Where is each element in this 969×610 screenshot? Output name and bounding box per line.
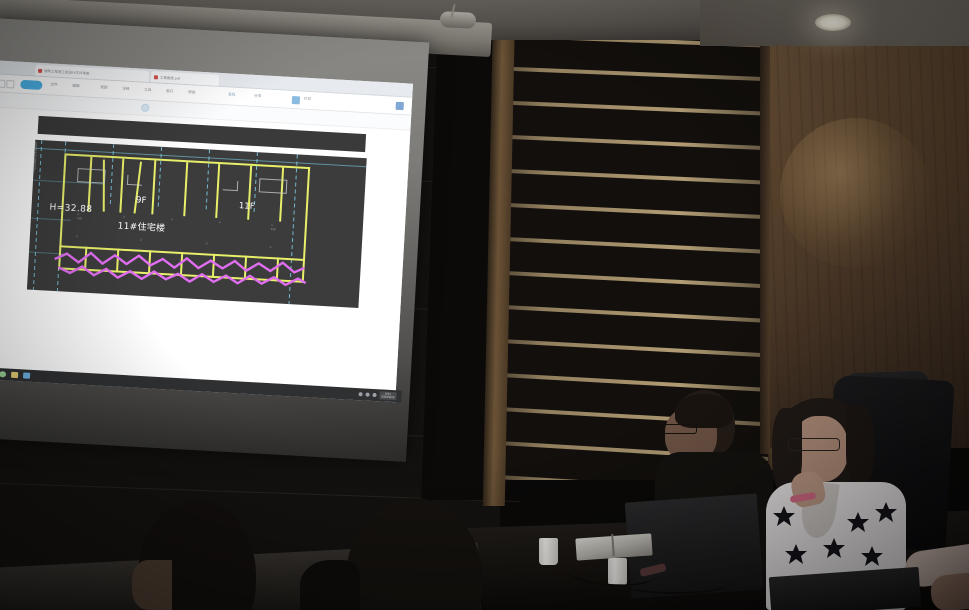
toolbar-item-1[interactable]: 编辑 — [72, 84, 79, 89]
browser-icon[interactable] — [0, 371, 6, 377]
toolbar-right-2[interactable]: 打印 — [304, 97, 311, 102]
man-hairline — [675, 394, 733, 428]
paper-cup-left — [539, 538, 558, 565]
pdf-icon — [154, 75, 158, 79]
toolbar-item-2[interactable]: 视图 — [100, 85, 107, 90]
cable-secondary — [620, 572, 730, 594]
woman-glasses-icon — [788, 438, 840, 451]
cad-floor-label-right: 11F — [239, 201, 255, 212]
toolbar-item-5[interactable]: 窗口 — [166, 89, 173, 94]
taskbar-tray: 9:51 2020/9/24 — [358, 390, 397, 401]
magenta-ground-line — [27, 140, 367, 308]
primary-action-button[interactable] — [20, 80, 42, 90]
browser-tab-1-label: 建筑工程施工图设计文件审查 — [44, 68, 90, 76]
window-icon[interactable] — [23, 372, 30, 378]
cad-drawing-canvas: 4408 4 4 4 4408 3 3 3 3 — [27, 140, 367, 308]
toolbar-item-6[interactable]: 帮助 — [188, 90, 195, 95]
folder-icon[interactable] — [11, 372, 18, 378]
forward-icon[interactable] — [6, 80, 14, 88]
meeting-room-scene: 建筑工程施工图设计文件审查 工程图纸.pdf 文件 编辑 视图 注释 — [0, 0, 969, 610]
cad-floor-label-left: 9F — [136, 195, 147, 206]
man-glasses-icon — [661, 424, 697, 434]
menu-icon[interactable] — [396, 102, 404, 110]
cad-building-label: 11#住宅楼 — [117, 218, 165, 234]
toolbar-item-4[interactable]: 工具 — [144, 88, 151, 93]
toolbar-item-0[interactable]: 文件 — [50, 82, 57, 87]
back-icon[interactable] — [0, 80, 6, 88]
toolbar-right-0[interactable]: 查找 — [228, 92, 235, 97]
projector-screen: 建筑工程施工图设计文件审查 工程图纸.pdf 文件 编辑 视图 注释 — [0, 18, 429, 462]
audience-left-shoulder — [300, 560, 360, 610]
toolbar-item-3[interactable]: 注释 — [122, 86, 129, 91]
user-avatar-icon[interactable] — [292, 96, 300, 104]
recessed-downlight-icon — [815, 14, 851, 31]
clock-date: 2020/9/24 — [381, 394, 395, 399]
woman-hair-right — [846, 406, 874, 486]
secondary-bar-hint: . . . . . — [191, 107, 199, 111]
os-taskbar: 9:51 2020/9/24 — [0, 367, 402, 402]
tray-icon-1[interactable] — [358, 392, 362, 396]
tray-icon-3[interactable] — [372, 393, 376, 397]
document-icon — [38, 68, 42, 72]
projected-application-window: 建筑工程施工图设计文件审查 工程图纸.pdf 文件 编辑 视图 注释 — [0, 60, 413, 399]
audience-left-ear — [132, 560, 172, 610]
zoom-tool-icon[interactable] — [141, 104, 149, 112]
browser-tab-2-label: 工程图纸.pdf — [160, 75, 180, 81]
tray-icon-2[interactable] — [365, 393, 369, 397]
taskbar-clock[interactable]: 9:51 2020/9/24 — [379, 391, 397, 401]
toolbar-right-1[interactable]: 分享 — [254, 94, 261, 99]
document-page: 4408 4 4 4 4408 3 3 3 3 H=32.88 9F 11F 1… — [0, 107, 410, 402]
roller-end-cap — [440, 11, 477, 29]
